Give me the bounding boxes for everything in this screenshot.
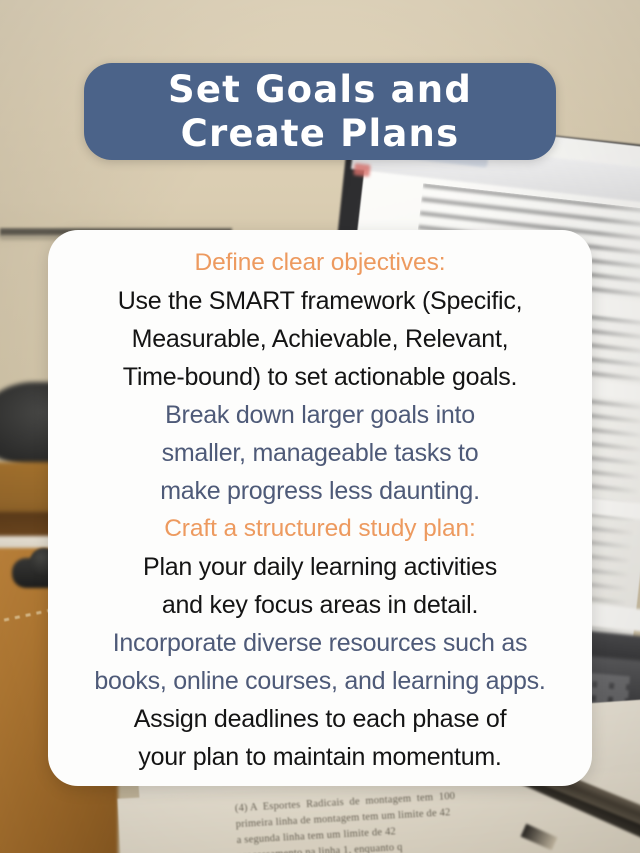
title-line-2: Create Plans — [181, 112, 460, 156]
body-text-assign-deadlines: Assign deadlines to each phase of your p… — [64, 700, 576, 776]
poster-canvas: (4) A Esportes Radicais de montagem tem … — [0, 0, 640, 853]
title-banner: Set Goals and Create Plans — [84, 63, 556, 160]
body-text-smart-framework: Use the SMART framework (Specific, Measu… — [64, 282, 576, 396]
body-text-diverse-resources: Incorporate diverse resources such as bo… — [64, 624, 576, 700]
body-text-break-down-goals: Break down larger goals into smaller, ma… — [64, 396, 576, 510]
section-heading-craft-structured-study-plan: Craft a structured study plan: — [64, 510, 576, 548]
section-heading-define-clear-objectives: Define clear objectives: — [64, 244, 576, 282]
title-line-1: Set Goals and — [168, 68, 472, 112]
content-card: Define clear objectives: Use the SMART f… — [48, 230, 592, 786]
body-text-daily-learning-activities: Plan your daily learning activities and … — [64, 548, 576, 624]
